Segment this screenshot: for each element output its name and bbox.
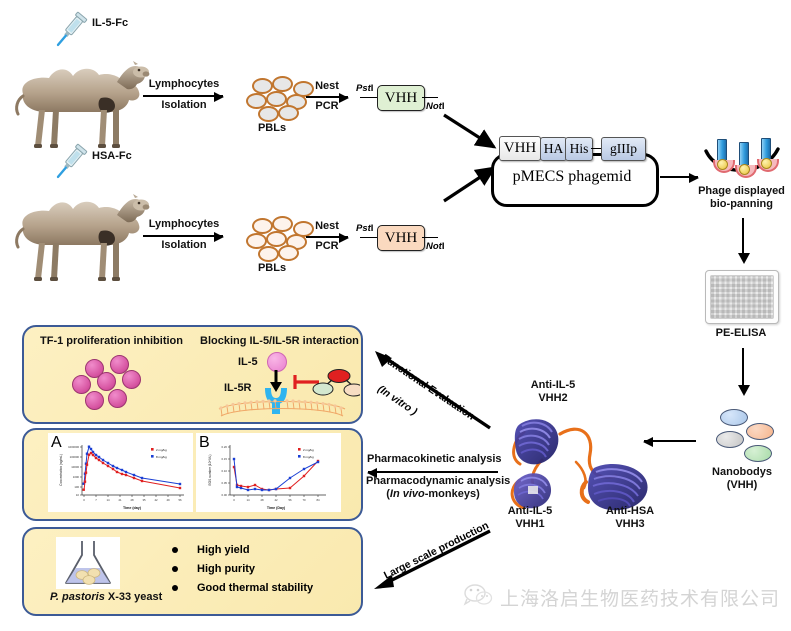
bullet-dot-3 — [172, 585, 178, 591]
vhh3-label-line1: Anti-HSA — [590, 505, 670, 519]
svg-text:2 mg/kg: 2 mg/kg — [156, 448, 167, 452]
vhh2-label-line1: Anti-IL-5 — [510, 379, 596, 393]
phagemid-giiip-label: gIIIp — [610, 141, 637, 157]
not1-text-2: Not — [426, 241, 442, 252]
svg-text:84: 84 — [316, 498, 320, 502]
pcr-label-1: PCR — [305, 100, 349, 114]
phagemid-vhh-label: VHH — [504, 140, 537, 157]
phagemid-his-label: His — [570, 141, 589, 157]
pst1-site-2: PstI — [356, 223, 373, 234]
not1-num-2: I — [442, 241, 445, 252]
nanobody-ellipse-4 — [744, 445, 772, 462]
lymphocytes-label-2: Lymphocytes — [141, 218, 227, 232]
phagemid-linker — [591, 148, 601, 149]
svg-text:10000: 10000 — [71, 465, 79, 469]
svg-text:Time (Day): Time (Day) — [267, 506, 286, 510]
svg-text:0.15: 0.15 — [222, 457, 228, 461]
phage-panning-icon — [700, 135, 791, 183]
bullet-text-2: High purity — [197, 563, 255, 575]
svg-text:56: 56 — [288, 498, 292, 502]
gene-line-right-1 — [422, 97, 438, 98]
vhh-gene-box-1: VHH — [377, 85, 425, 111]
antigen-label-il5: IL-5-Fc — [92, 17, 128, 31]
svg-text:7: 7 — [95, 498, 97, 502]
nest-label-1: Nest — [305, 80, 349, 94]
camel-image-1 — [5, 42, 151, 154]
monkeys-rest: -monkeys) — [425, 488, 480, 500]
svg-text:1000000: 1000000 — [68, 445, 79, 449]
pst1-num-2: I — [371, 223, 374, 234]
in-vivo-italic: In vivo — [390, 488, 425, 500]
bullet-text-1: High yield — [197, 544, 250, 556]
svg-text:EOS number (10^9/L): EOS number (10^9/L) — [208, 455, 212, 486]
svg-text:0.10: 0.10 — [222, 469, 228, 473]
nanobodys-label-line1: Nanobodys — [700, 466, 784, 480]
svg-text:42: 42 — [274, 498, 278, 502]
pbls-label-1: PBLs — [240, 122, 304, 136]
vhh-gene-label-2: VHH — [385, 230, 418, 247]
svg-text:Time (day): Time (day) — [123, 506, 142, 510]
phagemid-element-ha: HA — [540, 137, 567, 161]
elisa-label: PE-ELISA — [700, 327, 782, 341]
svg-text:100: 100 — [74, 485, 79, 489]
vhh-gene-label-1: VHH — [385, 90, 418, 107]
svg-text:100000: 100000 — [70, 455, 80, 459]
not1-site-2: NotI — [426, 241, 444, 252]
phagemid-element-his: His — [565, 137, 593, 161]
elisa-plate-icon — [705, 270, 779, 324]
svg-text:0.05: 0.05 — [222, 481, 228, 485]
arrow-elisa-to-nanobodys — [742, 348, 744, 386]
cell-membrane-icon — [217, 395, 347, 424]
svg-text:8 mg/kg: 8 mg/kg — [156, 455, 167, 459]
vhh3-label-line2: VHH3 — [590, 518, 670, 532]
nanobody-ellipse-1 — [720, 409, 748, 426]
pd-analysis-label: Pharmacodynamic analysis — [366, 475, 510, 489]
svg-text:0: 0 — [233, 498, 235, 502]
svg-text:14: 14 — [106, 498, 110, 502]
nanobodys-label-line2: (VHH) — [700, 479, 784, 493]
svg-text:42: 42 — [154, 498, 158, 502]
svg-text:28: 28 — [260, 498, 264, 502]
svg-text:1000: 1000 — [73, 475, 80, 479]
pcr-arrow-1 — [306, 96, 348, 98]
camel-image-2 — [5, 175, 151, 287]
in-vivo-monkeys-label: (In vivo-monkeys) — [366, 488, 500, 502]
isolation-arrow-1 — [143, 95, 223, 97]
svg-text:14: 14 — [246, 498, 250, 502]
pmecs-phagemid-label: pMECS phagemid — [491, 168, 653, 186]
isolation-arrow-2 — [143, 235, 223, 237]
svg-text:Concentration (ng/mL): Concentration (ng/mL) — [59, 454, 63, 486]
yeast-strain: X-33 yeast — [105, 591, 162, 603]
svg-text:8 mg/kg: 8 mg/kg — [303, 455, 314, 459]
bullet-dot-2 — [172, 566, 178, 572]
nanobodys-icon — [706, 405, 780, 461]
svg-text:10: 10 — [76, 493, 80, 497]
isolation-label-2: Isolation — [141, 239, 227, 253]
bullet-text-3: Good thermal stability — [197, 582, 313, 594]
vhh1-label-line2: VHH1 — [490, 518, 570, 532]
pst1-text-1: Pst — [356, 83, 371, 94]
phagemid-ha-label: HA — [544, 141, 564, 157]
pst1-num-1: I — [371, 83, 374, 94]
yeast-species: P. pastoris — [50, 591, 105, 603]
wechat-logo-icon — [463, 583, 493, 607]
bullet-dot-1 — [172, 547, 178, 553]
svg-text:0.00: 0.00 — [222, 493, 228, 497]
svg-text:21: 21 — [118, 498, 122, 502]
antigen-label-hsa: HSA-Fc — [92, 150, 132, 164]
nest-label-2: Nest — [305, 220, 349, 234]
vhh-gene-box-2: VHH — [377, 225, 425, 251]
svg-text:28: 28 — [130, 498, 134, 502]
vhh2-label-line2: VHH2 — [510, 392, 596, 406]
chart-a-plot: 1000000100000 100001000 10010 0714 21283… — [52, 440, 190, 512]
isolation-label-1: Isolation — [141, 99, 227, 113]
lymphocytes-label-1: Lymphocytes — [141, 78, 227, 92]
vhh1-label-line1: Anti-IL-5 — [490, 505, 570, 519]
panning-label-line2: bio-panning — [692, 198, 791, 212]
yeast-flask-icon — [56, 537, 120, 589]
svg-text:70: 70 — [302, 498, 306, 502]
svg-text:49: 49 — [166, 498, 170, 502]
pk-pd-arrow — [368, 471, 498, 473]
pbls-label-2: PBLs — [240, 262, 304, 276]
elisa-wells — [710, 275, 774, 319]
svg-text:35: 35 — [142, 498, 146, 502]
phagemid-element-vhh: VHH — [499, 136, 541, 161]
nanobody-ellipse-3 — [716, 431, 744, 448]
pcr-label-2: PCR — [305, 240, 349, 254]
arrow-panning-to-elisa — [742, 218, 744, 254]
gene-line-right-2 — [422, 237, 438, 238]
chart-b-plot: 0.200.15 0.100.05 0.00 01428 425670 84 T… — [200, 440, 338, 512]
pk-analysis-label: Pharmacokinetic analysis — [367, 453, 502, 467]
company-watermark: 上海洛启生物医药技术有限公司 — [500, 584, 780, 611]
svg-text:0: 0 — [83, 498, 85, 502]
yeast-label: P. pastoris X-33 yeast — [50, 591, 162, 605]
pst1-text-2: Pst — [356, 223, 371, 234]
panning-label-line1: Phage displayed — [692, 185, 791, 199]
svg-text:56: 56 — [178, 498, 182, 502]
pcr-arrow-2 — [306, 236, 348, 238]
phagemid-element-giiip: gIIIp — [601, 137, 646, 161]
blocking-title: Blocking IL-5/IL-5R interaction — [200, 335, 359, 349]
nanobody-ellipse-2 — [746, 423, 774, 440]
tf1-title: TF-1 proliferation inhibition — [40, 335, 183, 349]
svg-text:2 mg/kg: 2 mg/kg — [303, 448, 314, 452]
gene-line-left-1 — [360, 97, 378, 98]
pst1-site-1: PstI — [356, 83, 373, 94]
gene-line-left-2 — [360, 237, 378, 238]
arrow-to-panning — [660, 176, 698, 178]
svg-text:0.20: 0.20 — [222, 445, 228, 449]
